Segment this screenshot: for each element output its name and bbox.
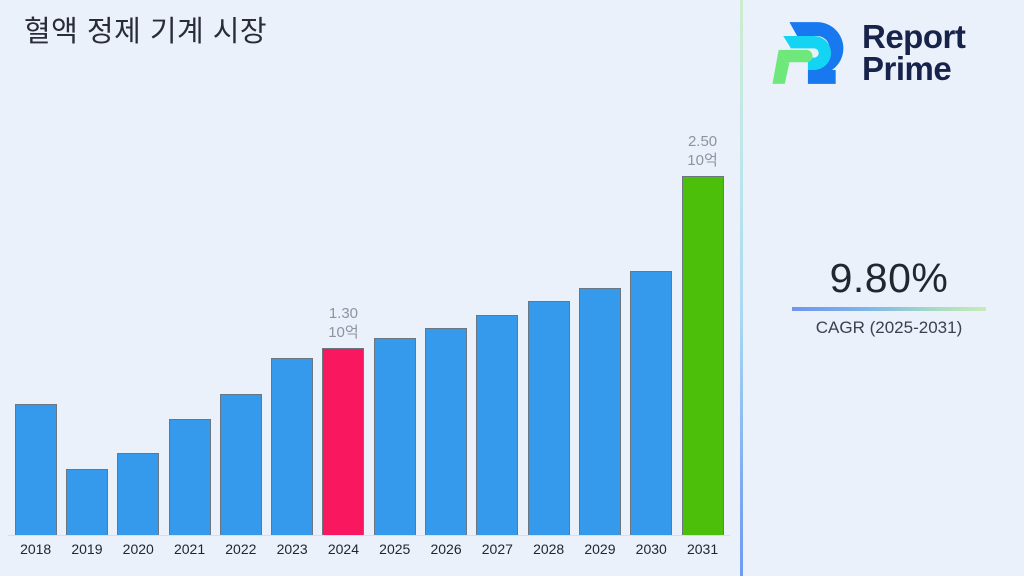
x-axis-line: [8, 535, 730, 536]
bar-rect-2022[interactable]: [220, 394, 262, 535]
bar-2025[interactable]: [374, 338, 416, 535]
x-tick-2031: 2031: [673, 541, 733, 557]
bar-2024[interactable]: [322, 348, 364, 535]
bar-rect-2024[interactable]: [322, 348, 364, 535]
brand-logo: Report Prime: [772, 12, 1008, 94]
chart-page: 혈액 정제 기계 시장 2018201920202021202220231.30…: [0, 0, 1024, 576]
cagr-divider: [792, 307, 986, 311]
bar-rect-2031[interactable]: [682, 176, 724, 535]
report-prime-r-logo-icon: [772, 16, 850, 90]
bar-2018[interactable]: [15, 404, 57, 535]
bar-rect-2030[interactable]: [630, 271, 672, 535]
bar-2028[interactable]: [528, 301, 570, 535]
bar-rect-2028[interactable]: [528, 301, 570, 535]
bar-chart-plot-area: 2018201920202021202220231.30 10억20242025…: [0, 0, 740, 576]
bar-rect-2029[interactable]: [579, 288, 621, 535]
cagr-block: 9.80% CAGR (2025-2031): [760, 255, 1018, 338]
bar-2031[interactable]: [682, 176, 724, 535]
bar-2021[interactable]: [169, 419, 211, 535]
bar-2019[interactable]: [66, 469, 108, 535]
bar-2022[interactable]: [220, 394, 262, 535]
bar-rect-2027[interactable]: [476, 315, 518, 535]
brand-logo-text: Report Prime: [862, 21, 965, 86]
bar-2029[interactable]: [579, 288, 621, 535]
bar-rect-2020[interactable]: [117, 453, 159, 535]
bar-2030[interactable]: [630, 271, 672, 535]
bar-rect-2019[interactable]: [66, 469, 108, 535]
bar-2020[interactable]: [117, 453, 159, 535]
brand-line-1: Report: [862, 21, 965, 53]
bar-2027[interactable]: [476, 315, 518, 535]
cagr-caption: CAGR (2025-2031): [760, 318, 1018, 338]
brand-line-2: Prime: [862, 53, 965, 85]
bar-rect-2025[interactable]: [374, 338, 416, 535]
bar-2023[interactable]: [271, 358, 313, 535]
bar-value-label-2024: 1.30 10억: [308, 304, 378, 342]
cagr-value: 9.80%: [760, 255, 1018, 302]
bar-rect-2023[interactable]: [271, 358, 313, 535]
bar-rect-2021[interactable]: [169, 419, 211, 535]
bar-value-label-2031: 2.50 10억: [668, 132, 738, 170]
bar-2026[interactable]: [425, 328, 467, 535]
bar-rect-2018[interactable]: [15, 404, 57, 535]
panel-divider: [740, 0, 743, 576]
bar-rect-2026[interactable]: [425, 328, 467, 535]
